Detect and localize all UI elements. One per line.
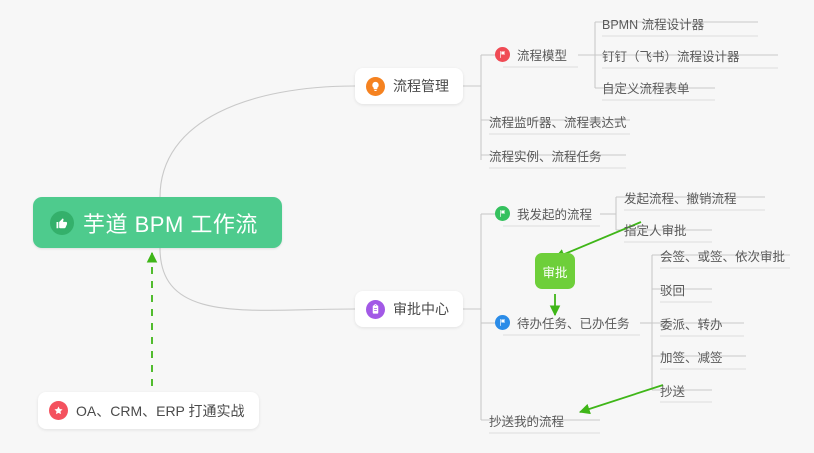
node-todo-done-tasks[interactable]: 待办任务、已办任务 <box>495 309 630 335</box>
branch-process-management[interactable]: 流程管理 <box>355 68 463 104</box>
node-process-model[interactable]: 流程模型 <box>495 41 567 67</box>
root-label: 芋道 BPM 工作流 <box>83 207 258 239</box>
approve-badge[interactable]: 审批 <box>535 253 575 289</box>
node-bpmn-designer[interactable]: BPMN 流程设计器 <box>602 10 704 36</box>
node-label: 待办任务、已办任务 <box>517 313 630 332</box>
node-label: 指定人审批 <box>624 220 687 239</box>
node-label: 我发起的流程 <box>517 204 592 223</box>
thumbs-up-icon <box>50 211 74 235</box>
node-label: 驳回 <box>660 280 685 299</box>
node-label: 加签、减签 <box>660 347 723 366</box>
node-countersign[interactable]: 会签、或签、依次审批 <box>660 242 785 268</box>
node-label: 流程模型 <box>517 45 567 64</box>
flag-icon <box>495 206 510 221</box>
node-reject[interactable]: 驳回 <box>660 276 685 302</box>
footer-node-integration[interactable]: OA、CRM、ERP 打通实战 <box>38 392 259 429</box>
node-label: 会签、或签、依次审批 <box>660 246 785 265</box>
branch-label: 审批中心 <box>393 299 449 319</box>
branch-approval-center[interactable]: 审批中心 <box>355 291 463 327</box>
flag-icon <box>495 315 510 330</box>
node-carbon-copy[interactable]: 抄送 <box>660 377 685 403</box>
node-process-listener[interactable]: 流程监听器、流程表达式 <box>489 108 627 134</box>
lightbulb-icon <box>366 77 385 96</box>
node-label: 发起流程、撤销流程 <box>624 188 737 207</box>
node-label: 流程监听器、流程表达式 <box>489 112 627 131</box>
arrow-cc-to-ccflow <box>580 385 663 412</box>
branch-label: 流程管理 <box>393 76 449 96</box>
node-label: 流程实例、流程任务 <box>489 146 602 165</box>
footer-node-label: OA、CRM、ERP 打通实战 <box>76 401 245 421</box>
mindmap-canvas: 芋道 BPM 工作流 流程管理 审批中心 流程模型 流程监听器、流程表达式 流程 <box>0 0 814 453</box>
node-cc-my-flows[interactable]: 抄送我的流程 <box>489 407 564 433</box>
node-assignee-approval[interactable]: 指定人审批 <box>624 216 687 242</box>
node-label: 自定义流程表单 <box>602 78 690 97</box>
node-add-remove-sign[interactable]: 加签、减签 <box>660 343 723 369</box>
node-label: 钉钉（飞书）流程设计器 <box>602 46 740 65</box>
node-label: 抄送我的流程 <box>489 411 564 430</box>
approve-badge-label: 审批 <box>542 262 567 281</box>
node-process-instance[interactable]: 流程实例、流程任务 <box>489 142 602 168</box>
node-label: BPMN 流程设计器 <box>602 14 704 33</box>
node-custom-form[interactable]: 自定义流程表单 <box>602 74 690 100</box>
node-label: 抄送 <box>660 381 685 400</box>
clipboard-icon <box>366 300 385 319</box>
node-launch-cancel-flow[interactable]: 发起流程、撤销流程 <box>624 184 737 210</box>
link-root-to-process-management <box>160 86 355 197</box>
node-dingtalk-designer[interactable]: 钉钉（飞书）流程设计器 <box>602 42 740 68</box>
star-icon <box>49 401 68 420</box>
root-node[interactable]: 芋道 BPM 工作流 <box>33 197 282 248</box>
link-root-to-approval-center <box>160 248 355 310</box>
node-label: 委派、转办 <box>660 314 723 333</box>
node-my-started-flows[interactable]: 我发起的流程 <box>495 200 592 226</box>
node-delegate-transfer[interactable]: 委派、转办 <box>660 310 723 336</box>
flag-icon <box>495 47 510 62</box>
